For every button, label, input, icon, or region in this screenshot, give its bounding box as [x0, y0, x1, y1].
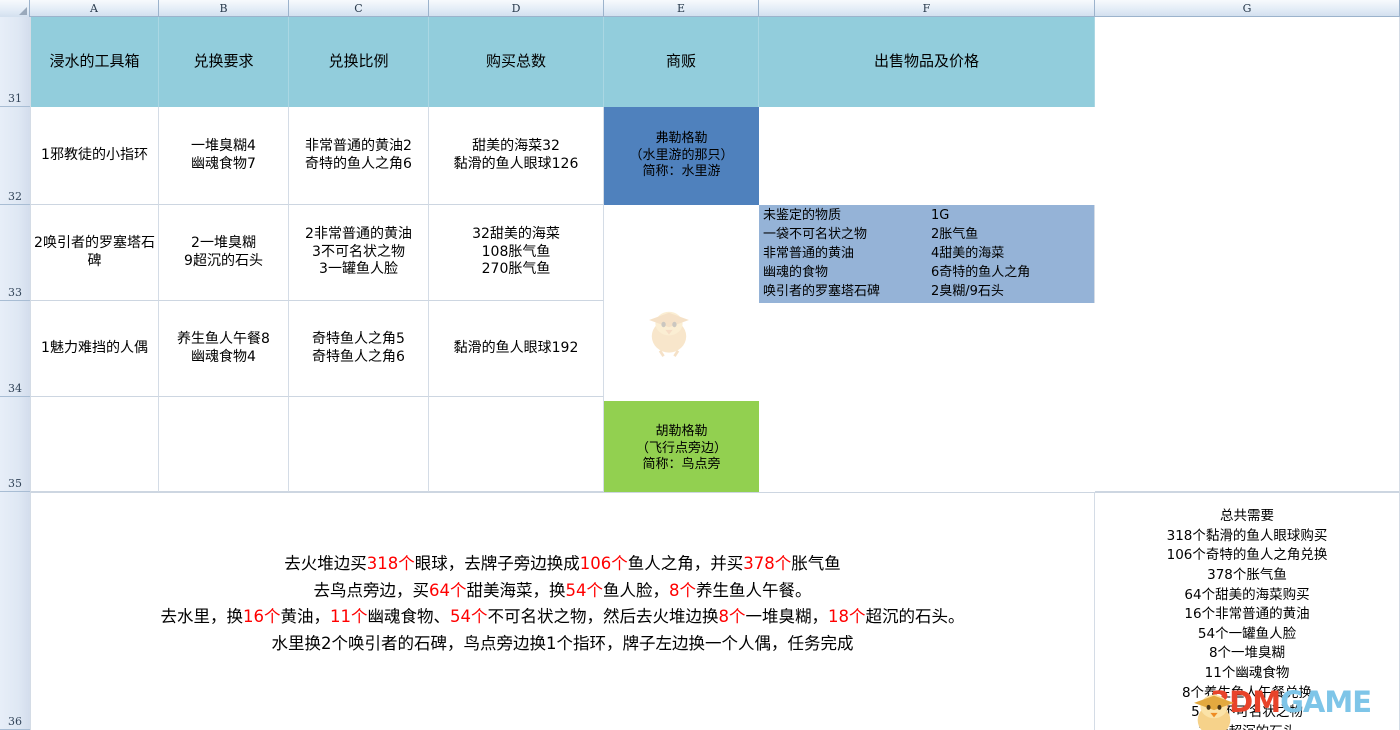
wl3-s1: 16个: [243, 607, 281, 626]
merchant-32-short: 简称：水里游: [642, 164, 720, 179]
wl1-s3: 106个: [580, 554, 628, 573]
column-header-d[interactable]: D: [429, 0, 604, 17]
wl1-s2: 眼球，去牌子旁边换成: [415, 554, 580, 573]
totals-line-6: 8个一堆臭糊: [1167, 644, 1328, 664]
d32-line-0: 甜美的海菜32: [472, 138, 560, 154]
cell-b33[interactable]: 2一堆臭糊9超沉的石头: [159, 205, 289, 301]
cell-d32[interactable]: 甜美的海菜32黏滑的鱼人眼球126: [429, 107, 604, 205]
b32-line-1: 幽魂食物7: [191, 156, 256, 172]
cell-b32[interactable]: 一堆臭糊4幽魂食物7: [159, 107, 289, 205]
cell-d33[interactable]: 32甜美的海菜108胀气鱼270胀气鱼: [429, 205, 604, 301]
totals-title: 总共需要: [1167, 507, 1328, 527]
c33-line-1: 3不可名状之物: [312, 244, 405, 260]
cell-c35[interactable]: [289, 397, 429, 492]
item-row: 非常普通的黄油4甜美的海菜: [759, 245, 1094, 264]
item-32-1-price: 2胀气鱼: [931, 227, 1094, 244]
cell-a35[interactable]: [30, 397, 159, 492]
header-cell-ratio[interactable]: 兑换比例: [289, 17, 429, 107]
row-header-33[interactable]: 33: [0, 205, 30, 301]
item-row: 未鉴定的物质1G: [759, 207, 1094, 226]
item-32-2-name: 非常普通的黄油: [759, 246, 931, 263]
c34-line-1: 奇特鱼人之角6: [312, 349, 405, 365]
merchant-33-name: 胡勒格勒: [655, 424, 707, 439]
wl4-s0: 水里换2个唤引者的石碑，鸟点旁边换1个指环，牌子左边换一个人偶，任务完成: [272, 634, 854, 653]
cell-a32[interactable]: 1邪教徒的小指环: [30, 107, 159, 205]
row-header-gutter: 31 32 33 34 35 36: [0, 17, 30, 730]
cell-items-32[interactable]: 未鉴定的物质1G 一袋不可名状之物2胀气鱼 非常普通的黄油4甜美的海菜 幽魂的食…: [759, 205, 1095, 303]
wl2-s1: 64个: [429, 581, 467, 600]
item-32-3-price: 6奇特的鱼人之角: [931, 265, 1094, 282]
wl2-s4: 鱼人脸，: [603, 581, 669, 600]
row-header-34[interactable]: 34: [0, 301, 30, 397]
column-header-e[interactable]: E: [604, 0, 759, 17]
merchant-32-name: 弗勒格勒: [655, 131, 707, 146]
row-header-36[interactable]: 36: [0, 492, 30, 730]
c34-line-0: 奇特鱼人之角5: [312, 331, 405, 347]
totals-line-9: 54个不可名状之物: [1167, 703, 1328, 723]
totals-line-7: 11个幽魂食物: [1167, 664, 1328, 684]
c32-line-0: 非常普通的黄油2: [305, 138, 412, 154]
totals-line-8: 8个养生鱼人午餐兑换: [1167, 684, 1328, 704]
column-header-g[interactable]: G: [1095, 0, 1400, 17]
wl2-s3: 54个: [566, 581, 604, 600]
totals-line-2: 378个胀气鱼: [1167, 566, 1328, 586]
row-header-35[interactable]: 35: [0, 397, 30, 492]
walkthrough-line-3: 去水里，换16个黄油，11个幽魂食物、54个不可名状之物，然后去火堆边换8个一堆…: [161, 604, 965, 631]
wl3-s5: 54个: [450, 607, 488, 626]
merchant-33-short: 简称：鸟点旁: [642, 457, 720, 472]
cell-c32[interactable]: 非常普通的黄油2奇特的鱼人之角6: [289, 107, 429, 205]
totals-line-3: 64个甜美的海菜购买: [1167, 586, 1328, 606]
header-cell-merchant[interactable]: 商贩: [604, 17, 759, 107]
merchant-33-location: （飞行点旁边）: [636, 441, 727, 456]
wl2-s0: 去鸟点旁边，买: [314, 581, 430, 600]
totals-line-10: 18个超沉的石头: [1167, 723, 1328, 730]
item-32-1-name: 一袋不可名状之物: [759, 227, 931, 244]
item-row: 一袋不可名状之物2胀气鱼: [759, 226, 1094, 245]
walkthrough-text: 去火堆边买318个眼球，去牌子旁边换成106个鱼人之角，并买378个胀气鱼 去鸟…: [161, 551, 965, 658]
wl1-s1: 318个: [367, 554, 415, 573]
d33-line-2: 270胀气鱼: [482, 261, 551, 277]
merchant-32-location: （水里游的那只）: [629, 148, 733, 163]
column-header-a[interactable]: A: [30, 0, 159, 17]
item-32-4-name: 唤引者的罗塞塔石碑: [759, 284, 931, 301]
row-header-32[interactable]: 32: [0, 107, 30, 205]
c33-line-2: 3一罐鱼人脸: [319, 261, 398, 277]
header-cell-items-prices[interactable]: 出售物品及价格: [759, 17, 1095, 107]
cell-b34[interactable]: 养生鱼人午餐8幽魂食物4: [159, 301, 289, 397]
column-header-c[interactable]: C: [289, 0, 429, 17]
wl1-s0: 去火堆边买: [284, 554, 367, 573]
item-32-0-name: 未鉴定的物质: [759, 208, 931, 225]
item-row: 唤引者的罗塞塔石碑2臭糊/9石头: [759, 283, 1094, 302]
cell-totals-list[interactable]: 总共需要 318个黏滑的鱼人眼球购买 106个奇特的鱼人之角兑换 378个胀气鱼…: [1095, 492, 1400, 730]
wl3-s8: 一堆臭糊，: [746, 607, 829, 626]
d33-line-0: 32甜美的海菜: [472, 226, 560, 242]
grid-body: 浸水的工具箱 兑换要求 兑换比例 购买总数 商贩 出售物品及价格 1邪教徒的小指…: [30, 17, 1400, 730]
totals-line-1: 106个奇特的鱼人之角兑换: [1167, 546, 1328, 566]
header-cell-toolbox[interactable]: 浸水的工具箱: [30, 17, 159, 107]
totals-line-5: 54个一罐鱼人脸: [1167, 625, 1328, 645]
b34-line-0: 养生鱼人午餐8: [177, 331, 270, 347]
column-g-empty-region[interactable]: [1095, 17, 1400, 492]
c32-line-1: 奇特的鱼人之角6: [305, 156, 412, 172]
item-32-2-price: 4甜美的海菜: [931, 246, 1094, 263]
cell-d34[interactable]: 黏滑的鱼人眼球192: [429, 301, 604, 397]
wl1-s4: 鱼人之角，并买: [628, 554, 744, 573]
cell-a33[interactable]: 2唤引者的罗塞塔石碑: [30, 205, 159, 301]
column-header-b[interactable]: B: [159, 0, 289, 17]
spreadsheet-canvas: A B C D E F G 31 32 33 34 35 36 浸水的工具箱 兑…: [0, 0, 1400, 730]
wl3-s2: 黄油，: [281, 607, 331, 626]
cell-d35[interactable]: [429, 397, 604, 492]
cell-b35[interactable]: [159, 397, 289, 492]
cell-merchant-32[interactable]: 弗勒格勒 （水里游的那只） 简称：水里游: [604, 107, 759, 205]
wl1-s5: 378个: [743, 554, 791, 573]
wl3-s0: 去水里，换: [161, 607, 244, 626]
wl3-s9: 18个: [828, 607, 866, 626]
item-32-4-price: 2臭糊/9石头: [931, 284, 1094, 301]
header-cell-total-buy[interactable]: 购买总数: [429, 17, 604, 107]
wl2-s5: 8个: [669, 581, 696, 600]
b32-line-0: 一堆臭糊4: [191, 138, 256, 154]
cell-c34[interactable]: 奇特鱼人之角5奇特鱼人之角6: [289, 301, 429, 397]
d33-line-1: 108胀气鱼: [482, 244, 551, 260]
b33-line-0: 2一堆臭糊: [191, 235, 256, 251]
item-32-0-price: 1G: [931, 208, 1094, 225]
select-all-corner[interactable]: [0, 0, 30, 17]
b34-line-1: 幽魂食物4: [191, 349, 256, 365]
d34-line-0: 黏滑的鱼人眼球192: [454, 340, 579, 356]
walkthrough-line-1: 去火堆边买318个眼球，去牌子旁边换成106个鱼人之角，并买378个胀气鱼: [161, 551, 965, 578]
wl3-s10: 超沉的石头。: [866, 607, 965, 626]
wl3-s4: 幽魂食物、: [368, 607, 451, 626]
wl2-s6: 养生鱼人午餐。: [696, 581, 812, 600]
item-row: 幽魂的食物6奇特的鱼人之角: [759, 264, 1094, 283]
totals-line-0: 318个黏滑的鱼人眼球购买: [1167, 527, 1328, 547]
walkthrough-line-4: 水里换2个唤引者的石碑，鸟点旁边换1个指环，牌子左边换一个人偶，任务完成: [161, 631, 965, 658]
row-header-31[interactable]: 31: [0, 17, 30, 107]
wl2-s2: 甜美海菜，换: [467, 581, 566, 600]
cell-a34[interactable]: 1魅力难挡的人偶: [30, 301, 159, 397]
totals-text: 总共需要 318个黏滑的鱼人眼球购买 106个奇特的鱼人之角兑换 378个胀气鱼…: [1167, 507, 1328, 730]
column-header-f[interactable]: F: [759, 0, 1095, 17]
column-header-row: A B C D E F G: [0, 0, 1400, 17]
item-32-3-name: 幽魂的食物: [759, 265, 931, 282]
b33-line-1: 9超沉的石头: [184, 253, 263, 269]
wl3-s6: 不可名状之物，然后去火堆边换: [488, 607, 719, 626]
wl3-s3: 11个: [330, 607, 368, 626]
cell-merchant-33[interactable]: 胡勒格勒 （飞行点旁边） 简称：鸟点旁: [604, 401, 759, 497]
header-cell-requirement[interactable]: 兑换要求: [159, 17, 289, 107]
d32-line-1: 黏滑的鱼人眼球126: [454, 156, 579, 172]
wl3-s7: 8个: [719, 607, 746, 626]
walkthrough-line-2: 去鸟点旁边，买64个甜美海菜，换54个鱼人脸，8个养生鱼人午餐。: [161, 578, 965, 605]
c33-line-0: 2非常普通的黄油: [305, 226, 412, 242]
cell-walkthrough-summary[interactable]: 去火堆边买318个眼球，去牌子旁边换成106个鱼人之角，并买378个胀气鱼 去鸟…: [30, 492, 1095, 730]
cell-c33[interactable]: 2非常普通的黄油3不可名状之物3一罐鱼人脸: [289, 205, 429, 301]
wl1-s6: 胀气鱼: [791, 554, 841, 573]
totals-line-4: 16个非常普通的黄油: [1167, 605, 1328, 625]
